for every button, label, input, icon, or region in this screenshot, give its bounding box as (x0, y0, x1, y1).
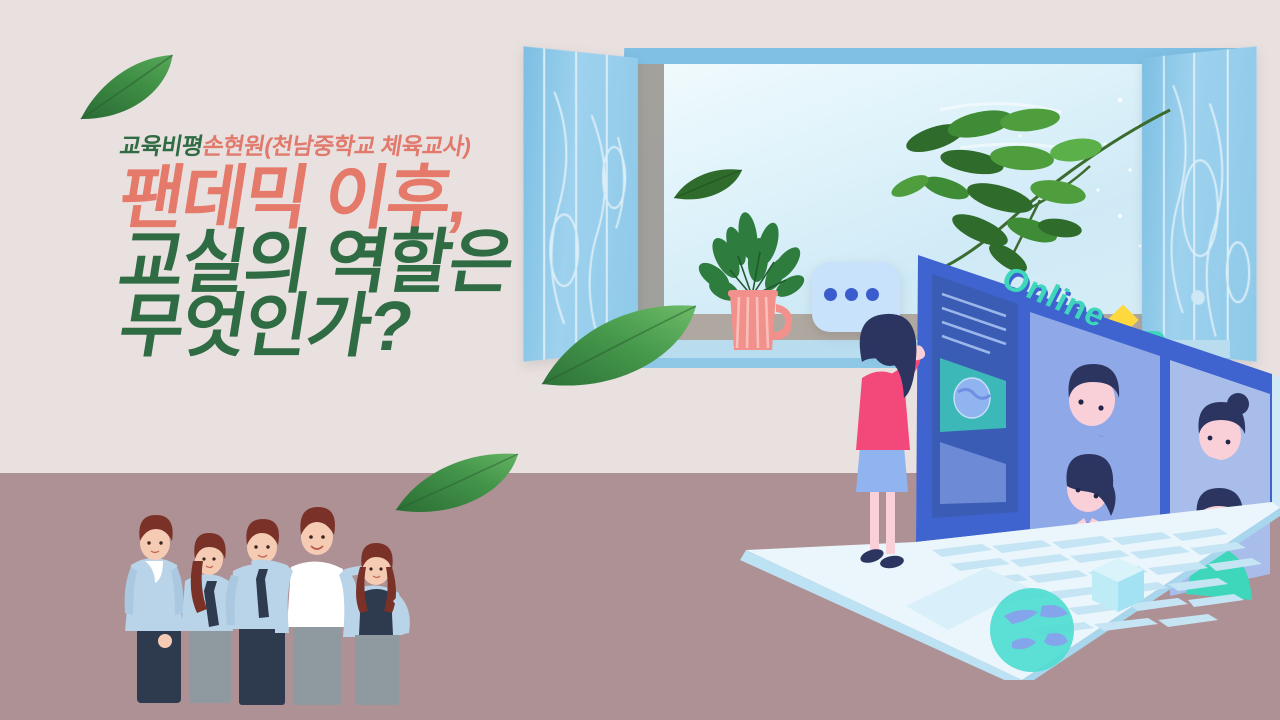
title-line-1: 팬데믹 이후, (115, 166, 765, 232)
laptop-illustration (700, 250, 1280, 680)
students-group-illustration (115, 495, 435, 720)
leaf-mid-bottom-icon (392, 444, 522, 522)
student-1 (125, 515, 184, 703)
subtitle-prefix: 교육비평 (118, 133, 205, 159)
subtitle-line: 교육비평손현원(천남중학교 체육교사) (118, 135, 762, 158)
poster-canvas: Online (0, 0, 1280, 720)
subtitle-author: 손현원(천남중학교 체육교사) (201, 133, 473, 159)
leaf-top-left-icon (72, 52, 182, 128)
title-line-2: 교실의 역할은 (115, 230, 765, 296)
leaf-title-right-icon (534, 292, 704, 396)
leaf-window-small-icon (672, 164, 746, 206)
